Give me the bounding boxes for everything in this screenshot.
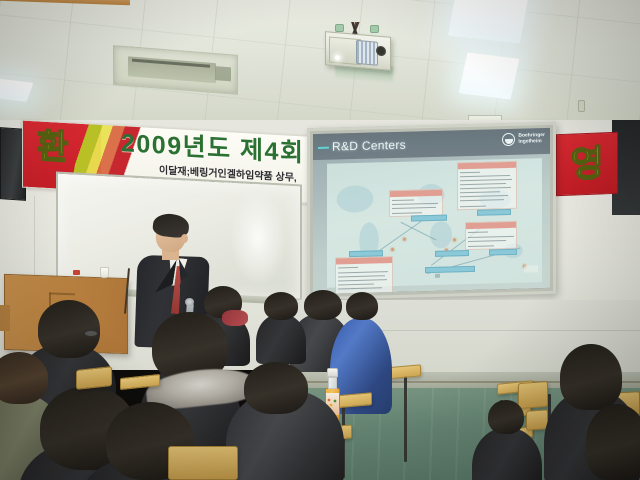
map-location-tag [435, 250, 469, 257]
student-long-hair [586, 404, 640, 480]
map-location-tag [489, 249, 517, 256]
student-scarf [222, 310, 248, 326]
slide-accent-dash [318, 147, 329, 149]
student-hair [488, 400, 524, 434]
presenter-ear [181, 234, 188, 243]
paper-cup [100, 267, 109, 278]
classroom-photo: 환 2009년도 제4회 이달재;베링거인겔하임약품 상무, 자연과학대학 화학… [0, 0, 640, 480]
map-location-tag [411, 215, 447, 222]
side-shelf [0, 305, 10, 331]
slide-content-area [327, 158, 542, 288]
ceiling-light-panel [448, 0, 528, 43]
logo-mark-icon [502, 133, 515, 146]
ceiling-tile-grid [0, 0, 640, 132]
map-info-box-header [458, 162, 516, 170]
welcome-banner-right-panel: 영 [556, 132, 618, 196]
podium-red-object [73, 270, 80, 275]
map-info-box [335, 256, 393, 294]
chair-backrest[interactable] [76, 366, 112, 390]
ceiling-projector [325, 31, 391, 71]
student-hair [304, 290, 342, 320]
slide-corner-mark [524, 265, 538, 272]
projection-screen: R&D Centers Boehringer Ingelheim [313, 128, 550, 294]
map-info-box-header [466, 222, 516, 229]
eyeglasses [84, 330, 98, 337]
student-hair [264, 292, 298, 320]
chair-backrest[interactable] [168, 446, 238, 480]
map-info-box [457, 161, 517, 211]
slide-page-number [435, 274, 440, 278]
podium-panel-line [49, 292, 75, 294]
banner-main-text: 2009년도 제4회 [121, 130, 304, 167]
projector-mount-bracket [335, 24, 344, 32]
logo-line-2: Ingelheim [518, 139, 545, 145]
boehringer-ingelheim-logo: Boehringer Ingelheim [502, 132, 545, 146]
slide-title: R&D Centers [332, 138, 406, 154]
whiteboard-glare [230, 189, 286, 288]
ceiling [0, 0, 640, 132]
student-hair [346, 292, 378, 320]
projector-vent-grille [356, 40, 378, 66]
student-coat [256, 314, 306, 364]
map-info-box-header [336, 257, 392, 264]
map-location-tag [349, 250, 383, 257]
ceiling-light-panel [459, 52, 520, 99]
projection-screen-frame: R&D Centers Boehringer Ingelheim [307, 122, 556, 301]
desk-leg [404, 372, 407, 462]
microphone-head-icon [185, 298, 194, 306]
student-long-hair [560, 344, 622, 410]
map-info-box-header [390, 190, 442, 197]
map-info-box [389, 189, 443, 217]
ac-side-vent [215, 66, 231, 81]
map-location-tag [477, 209, 511, 216]
sprinkler-head-icon [578, 100, 585, 112]
map-info-box [465, 221, 517, 250]
banner-right-character: 영 [570, 145, 603, 182]
projector-lens [376, 46, 386, 57]
student-hair [244, 362, 308, 414]
banner-left-character: 환 [37, 129, 67, 165]
student-hair [38, 300, 100, 358]
bottle-neck [328, 377, 337, 389]
bottle-cap [327, 368, 338, 377]
logo-wordmark: Boehringer Ingelheim [518, 133, 545, 145]
slide-surface: R&D Centers Boehringer Ingelheim [313, 128, 550, 294]
chair-backrest[interactable] [518, 381, 548, 409]
projector-mount-bracket [370, 25, 379, 33]
projector-status-led [335, 55, 340, 60]
